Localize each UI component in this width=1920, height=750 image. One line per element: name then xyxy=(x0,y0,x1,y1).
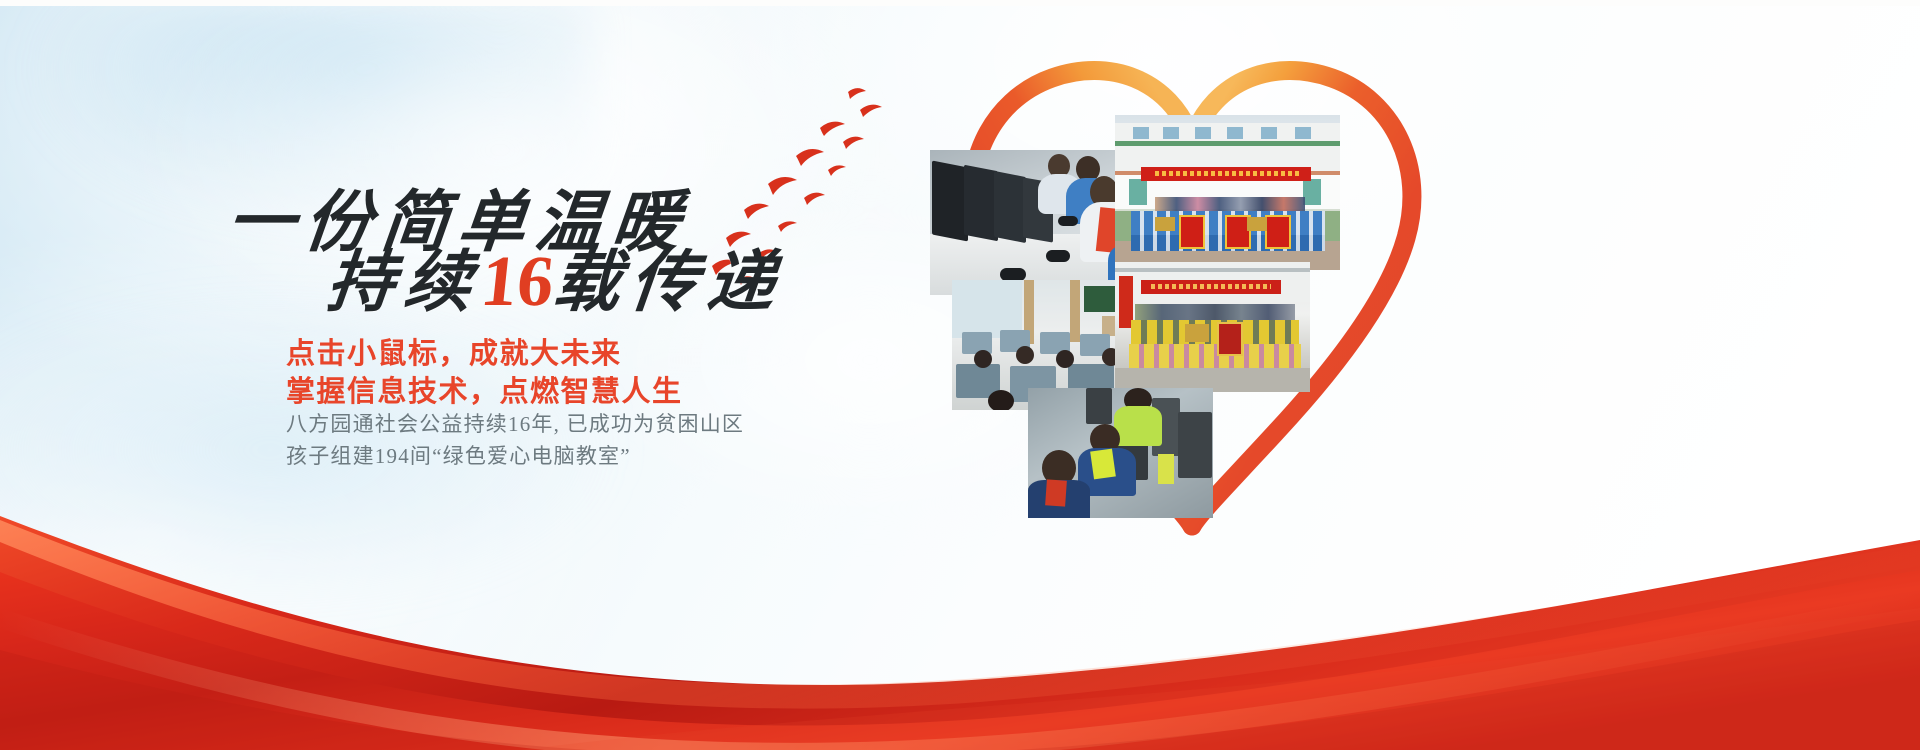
description-line-1: 八方园通社会公益持续16年, 已成功为贫困山区 xyxy=(286,408,744,438)
headline-line-2-after: 载传递 xyxy=(549,246,788,320)
description-line-2: 孩子组建194间“绿色爱心电脑教室” xyxy=(286,440,631,470)
photo-students-computer-lab-row xyxy=(930,150,1145,295)
charity-banner: 一份简单温暖 持续16载传递 点击小鼠标，成就大未来 掌握信息技术，点燃智慧人生… xyxy=(0,0,1920,750)
heart-photo-collage xyxy=(840,40,1540,600)
photo-school-donation-ceremony-blue xyxy=(1115,115,1340,270)
photo-boys-at-computers-closeup xyxy=(1028,388,1213,518)
photo-collage xyxy=(840,40,1540,600)
headline-line-2: 持续16载传递 xyxy=(323,228,790,325)
slogan-line-2: 掌握信息技术，点燃智慧人生 xyxy=(286,368,683,410)
headline-years-number: 16 xyxy=(477,241,557,321)
slogan-line-1: 点击小鼠标，成就大未来 xyxy=(286,330,622,372)
photo-donation-ceremony-yellow xyxy=(1115,262,1310,392)
headline-text-block: 一份简单温暖 持续16载传递 点击小鼠标，成就大未来 掌握信息技术，点燃智慧人生… xyxy=(0,0,880,620)
headline-line-2-before: 持续 xyxy=(323,246,485,320)
